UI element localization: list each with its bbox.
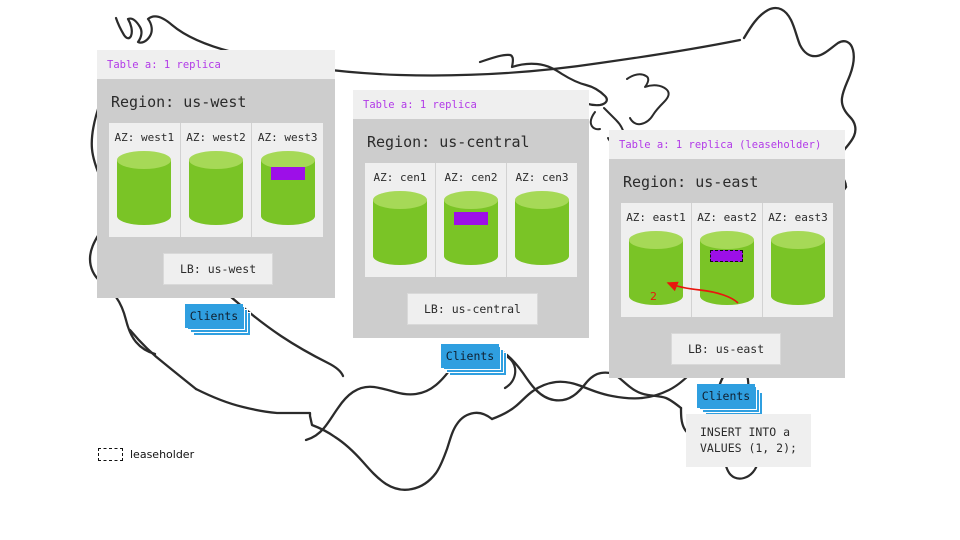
node-cylinder-cen3[interactable] <box>515 191 569 265</box>
az-cell-cen3[interactable]: AZ: cen3 <box>506 163 577 277</box>
clients-stack-us-east[interactable]: Clients <box>697 384 755 408</box>
az-cell-cen2[interactable]: AZ: cen2 <box>435 163 506 277</box>
az-label-west1: AZ: west1 <box>109 131 180 144</box>
map-southern-line <box>196 389 412 490</box>
replica-block-cen2 <box>454 212 488 225</box>
region-title-us-central: Region: us-central <box>365 119 577 163</box>
cylinder-top <box>189 151 243 169</box>
az-label-east2: AZ: east2 <box>692 211 762 224</box>
diagram-canvas: Table a: 1 replica Region: us-west AZ: w… <box>0 0 960 540</box>
clients-button-us-west[interactable]: Clients <box>185 304 243 328</box>
node-cylinder-cen1[interactable] <box>373 191 427 265</box>
panel-header-us-east: Table a: 1 replica (leaseholder) <box>609 130 845 159</box>
az-row-us-west: AZ: west1 AZ: west2 <box>109 123 323 237</box>
arrow-step-label: 2 <box>650 290 657 303</box>
cylinder-top <box>771 231 825 249</box>
load-balancer-us-west[interactable]: LB: us-west <box>163 253 273 285</box>
node-cylinder-east2[interactable] <box>700 231 754 305</box>
load-balancer-us-central[interactable]: LB: us-central <box>407 293 538 325</box>
az-cell-west3[interactable]: AZ: west3 <box>251 123 323 237</box>
region-panel-us-east: Table a: 1 replica (leaseholder) Region:… <box>609 130 845 378</box>
az-cell-east2[interactable]: AZ: east2 <box>691 203 762 317</box>
panel-body-us-central: Region: us-central AZ: cen1 AZ: cen2 <box>353 119 589 338</box>
load-balancer-us-east[interactable]: LB: us-east <box>671 333 781 365</box>
panel-header-us-west: Table a: 1 replica <box>97 50 335 79</box>
az-cell-west2[interactable]: AZ: west2 <box>180 123 252 237</box>
clients-button-us-central[interactable]: Clients <box>441 344 499 368</box>
leaseholder-replica-block-east2 <box>710 250 743 262</box>
node-cylinder-west3[interactable] <box>261 151 315 225</box>
cylinder-top <box>700 231 754 249</box>
region-panel-us-central: Table a: 1 replica Region: us-central AZ… <box>353 90 589 338</box>
map-louisiana <box>412 413 492 489</box>
leaseholder-swatch-icon <box>98 448 123 461</box>
az-label-cen3: AZ: cen3 <box>507 171 577 184</box>
clients-stack-us-west[interactable]: Clients <box>185 304 243 328</box>
cylinder-top <box>515 191 569 209</box>
az-cell-east3[interactable]: AZ: east3 <box>762 203 833 317</box>
az-label-cen2: AZ: cen2 <box>436 171 506 184</box>
panel-header-us-central: Table a: 1 replica <box>353 90 589 119</box>
az-label-cen1: AZ: cen1 <box>365 171 435 184</box>
az-label-west3: AZ: west3 <box>252 131 323 144</box>
cylinder-top <box>117 151 171 169</box>
az-row-us-central: AZ: cen1 AZ: cen2 <box>365 163 577 277</box>
replica-block-west3 <box>271 167 305 180</box>
node-cylinder-west2[interactable] <box>189 151 243 225</box>
az-label-east3: AZ: east3 <box>763 211 833 224</box>
node-cylinder-east3[interactable] <box>771 231 825 305</box>
cylinder-top <box>373 191 427 209</box>
sql-statement-box: INSERT INTO a VALUES (1, 2); <box>686 414 811 467</box>
clients-stack-us-central[interactable]: Clients <box>441 344 499 368</box>
region-title-us-east: Region: us-east <box>621 159 833 203</box>
cylinder-top <box>444 191 498 209</box>
panel-body-us-east: Region: us-east AZ: east1 AZ: east2 <box>609 159 845 378</box>
az-label-east1: AZ: east1 <box>621 211 691 224</box>
region-panel-us-west: Table a: 1 replica Region: us-west AZ: w… <box>97 50 335 298</box>
az-cell-west1[interactable]: AZ: west1 <box>109 123 180 237</box>
legend-label: leaseholder <box>130 448 194 461</box>
az-cell-cen1[interactable]: AZ: cen1 <box>365 163 435 277</box>
node-cylinder-cen2[interactable] <box>444 191 498 265</box>
node-cylinder-west1[interactable] <box>117 151 171 225</box>
map-lakes-inner <box>627 74 669 124</box>
clients-button-us-east[interactable]: Clients <box>697 384 755 408</box>
map-left-lower <box>130 330 196 389</box>
map-gulf-east <box>492 382 642 419</box>
panel-body-us-west: Region: us-west AZ: west1 AZ: west2 <box>97 79 335 298</box>
legend: leaseholder <box>98 448 194 461</box>
az-label-west2: AZ: west2 <box>181 131 252 144</box>
region-title-us-west: Region: us-west <box>109 79 323 123</box>
cylinder-top <box>629 231 683 249</box>
